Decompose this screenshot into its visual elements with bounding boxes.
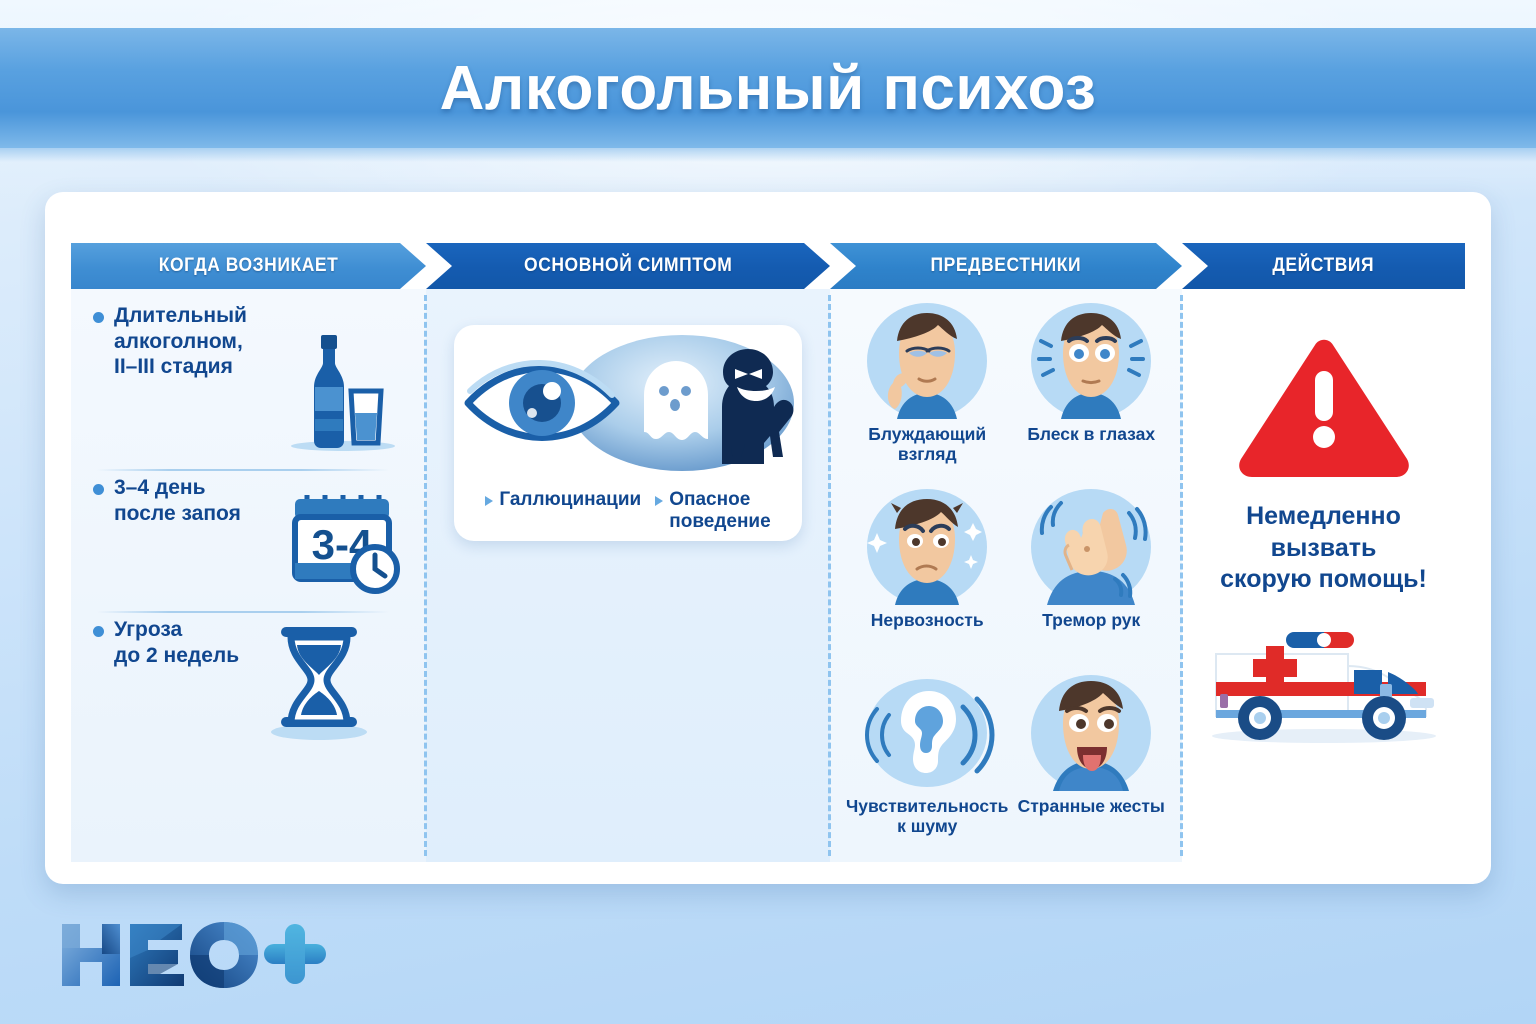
symptom-tag-hallucinations: Галлюцинации [485,489,641,533]
precursor-label: Блеск в глазах [1027,425,1155,445]
triangle-bullet-icon [485,496,493,506]
precursor-label: Нервозность [871,611,984,631]
shining-eyes-face-icon [1017,297,1165,429]
column-actions: Немедленно вызвать скорую помощь! [1182,289,1465,862]
tongue-out-face-icon [1017,669,1165,801]
column-precursors: Блуждающий взгляд [830,289,1182,862]
precursor-item: Тремор рук [1016,483,1166,669]
column-when: Длительный алкоголном, II–III стадия [71,289,426,862]
symptom-tag-dangerous-behavior: Опасное поведение [655,489,770,533]
bullet-dot-icon [93,312,104,323]
ear-sound-waves-icon [853,669,1001,801]
bullet-dot-icon [93,626,104,637]
section-header-actions-label: ДЕЙСТВИЯ [1273,255,1375,277]
precursors-grid: Блуждающий взгляд [846,297,1166,855]
column-symptom: Галлюцинации Опасное поведение [426,289,830,862]
section-header-actions: ДЕЙСТВИЯ [1182,243,1465,289]
trembling-hands-icon [1017,483,1165,615]
section-header-ribbon: КОГДА ВОЗНИКАЕТ ОСНОВНОЙ СИМПТОМ ПРЕДВЕС… [71,243,1465,289]
when-item-1-label: Длительный алкоголном, II–III стадия [114,303,247,380]
column-divider [424,295,427,856]
section-header-precursors-label: ПРЕДВЕСТНИКИ [931,255,1082,277]
section-header-when-label: КОГДА ВОЗНИКАЕТ [159,255,339,277]
warning-triangle-icon [1233,331,1415,481]
precursor-item: Блуждающий взгляд [846,297,1008,483]
symptom-tags: Галлюцинации Опасное поведение [454,489,802,533]
precursor-label: Странные жесты [1018,797,1165,817]
tired-eyes-face-icon [853,297,1001,429]
brand-logo [58,918,330,992]
column-divider [1180,295,1183,856]
action-content: Немедленно вызвать скорую помощь! [1182,289,1465,862]
ambulance-icon [1198,610,1450,750]
bottle-and-glass-icon [285,321,397,458]
precursor-item: Странные жесты [1016,669,1166,855]
section-header-precursors: ПРЕДВЕСТНИКИ [830,243,1182,289]
page-title: Алкогольный психоз [440,53,1097,124]
precursor-label: Тремор рук [1042,611,1140,631]
precursor-item: Нервозность [846,483,1008,669]
symptom-card: Галлюцинации Опасное поведение [454,325,802,541]
section-header-symptom-label: ОСНОВНОЙ СИМПТОМ [524,255,732,277]
calendar-clock-icon: 3-4 [283,487,403,604]
precursor-item: Чувствительность к шуму [846,669,1008,855]
when-item-2: 3–4 день после запоя 3-4 [93,475,405,615]
column-divider [828,295,831,856]
when-item-3: Угроза до 2 недель [93,617,405,757]
triangle-bullet-icon [655,496,663,506]
when-item-3-label: Угроза до 2 недель [114,617,239,668]
infographic-card: КОГДА ВОЗНИКАЕТ ОСНОВНОЙ СИМПТОМ ПРЕДВЕС… [45,192,1491,884]
symptom-tag-hallucinations-label: Галлюцинации [499,489,641,511]
hourglass-icon [265,619,373,748]
section-header-symptom: ОСНОВНОЙ СИМПТОМ [426,243,830,289]
action-text: Немедленно вызвать скорую помощь! [1220,501,1427,596]
symptom-tag-dangerous-behavior-label: Опасное поведение [669,489,770,533]
bullet-dot-icon [93,484,104,495]
eye-with-ghost-and-demon-icon [454,329,802,477]
precursor-label: Чувствительность к шуму [846,797,1008,837]
nervous-face-icon [853,483,1001,615]
when-item-1: Длительный алкоголном, II–III стадия [93,303,405,473]
precursor-item: Блеск в глазах [1016,297,1166,483]
columns-container: Длительный алкоголном, II–III стадия [71,289,1465,862]
section-header-when: КОГДА ВОЗНИКАЕТ [71,243,426,289]
title-band: Алкогольный психоз [0,28,1536,148]
when-item-2-label: 3–4 день после запоя [114,475,241,526]
precursor-label: Блуждающий взгляд [868,425,986,465]
